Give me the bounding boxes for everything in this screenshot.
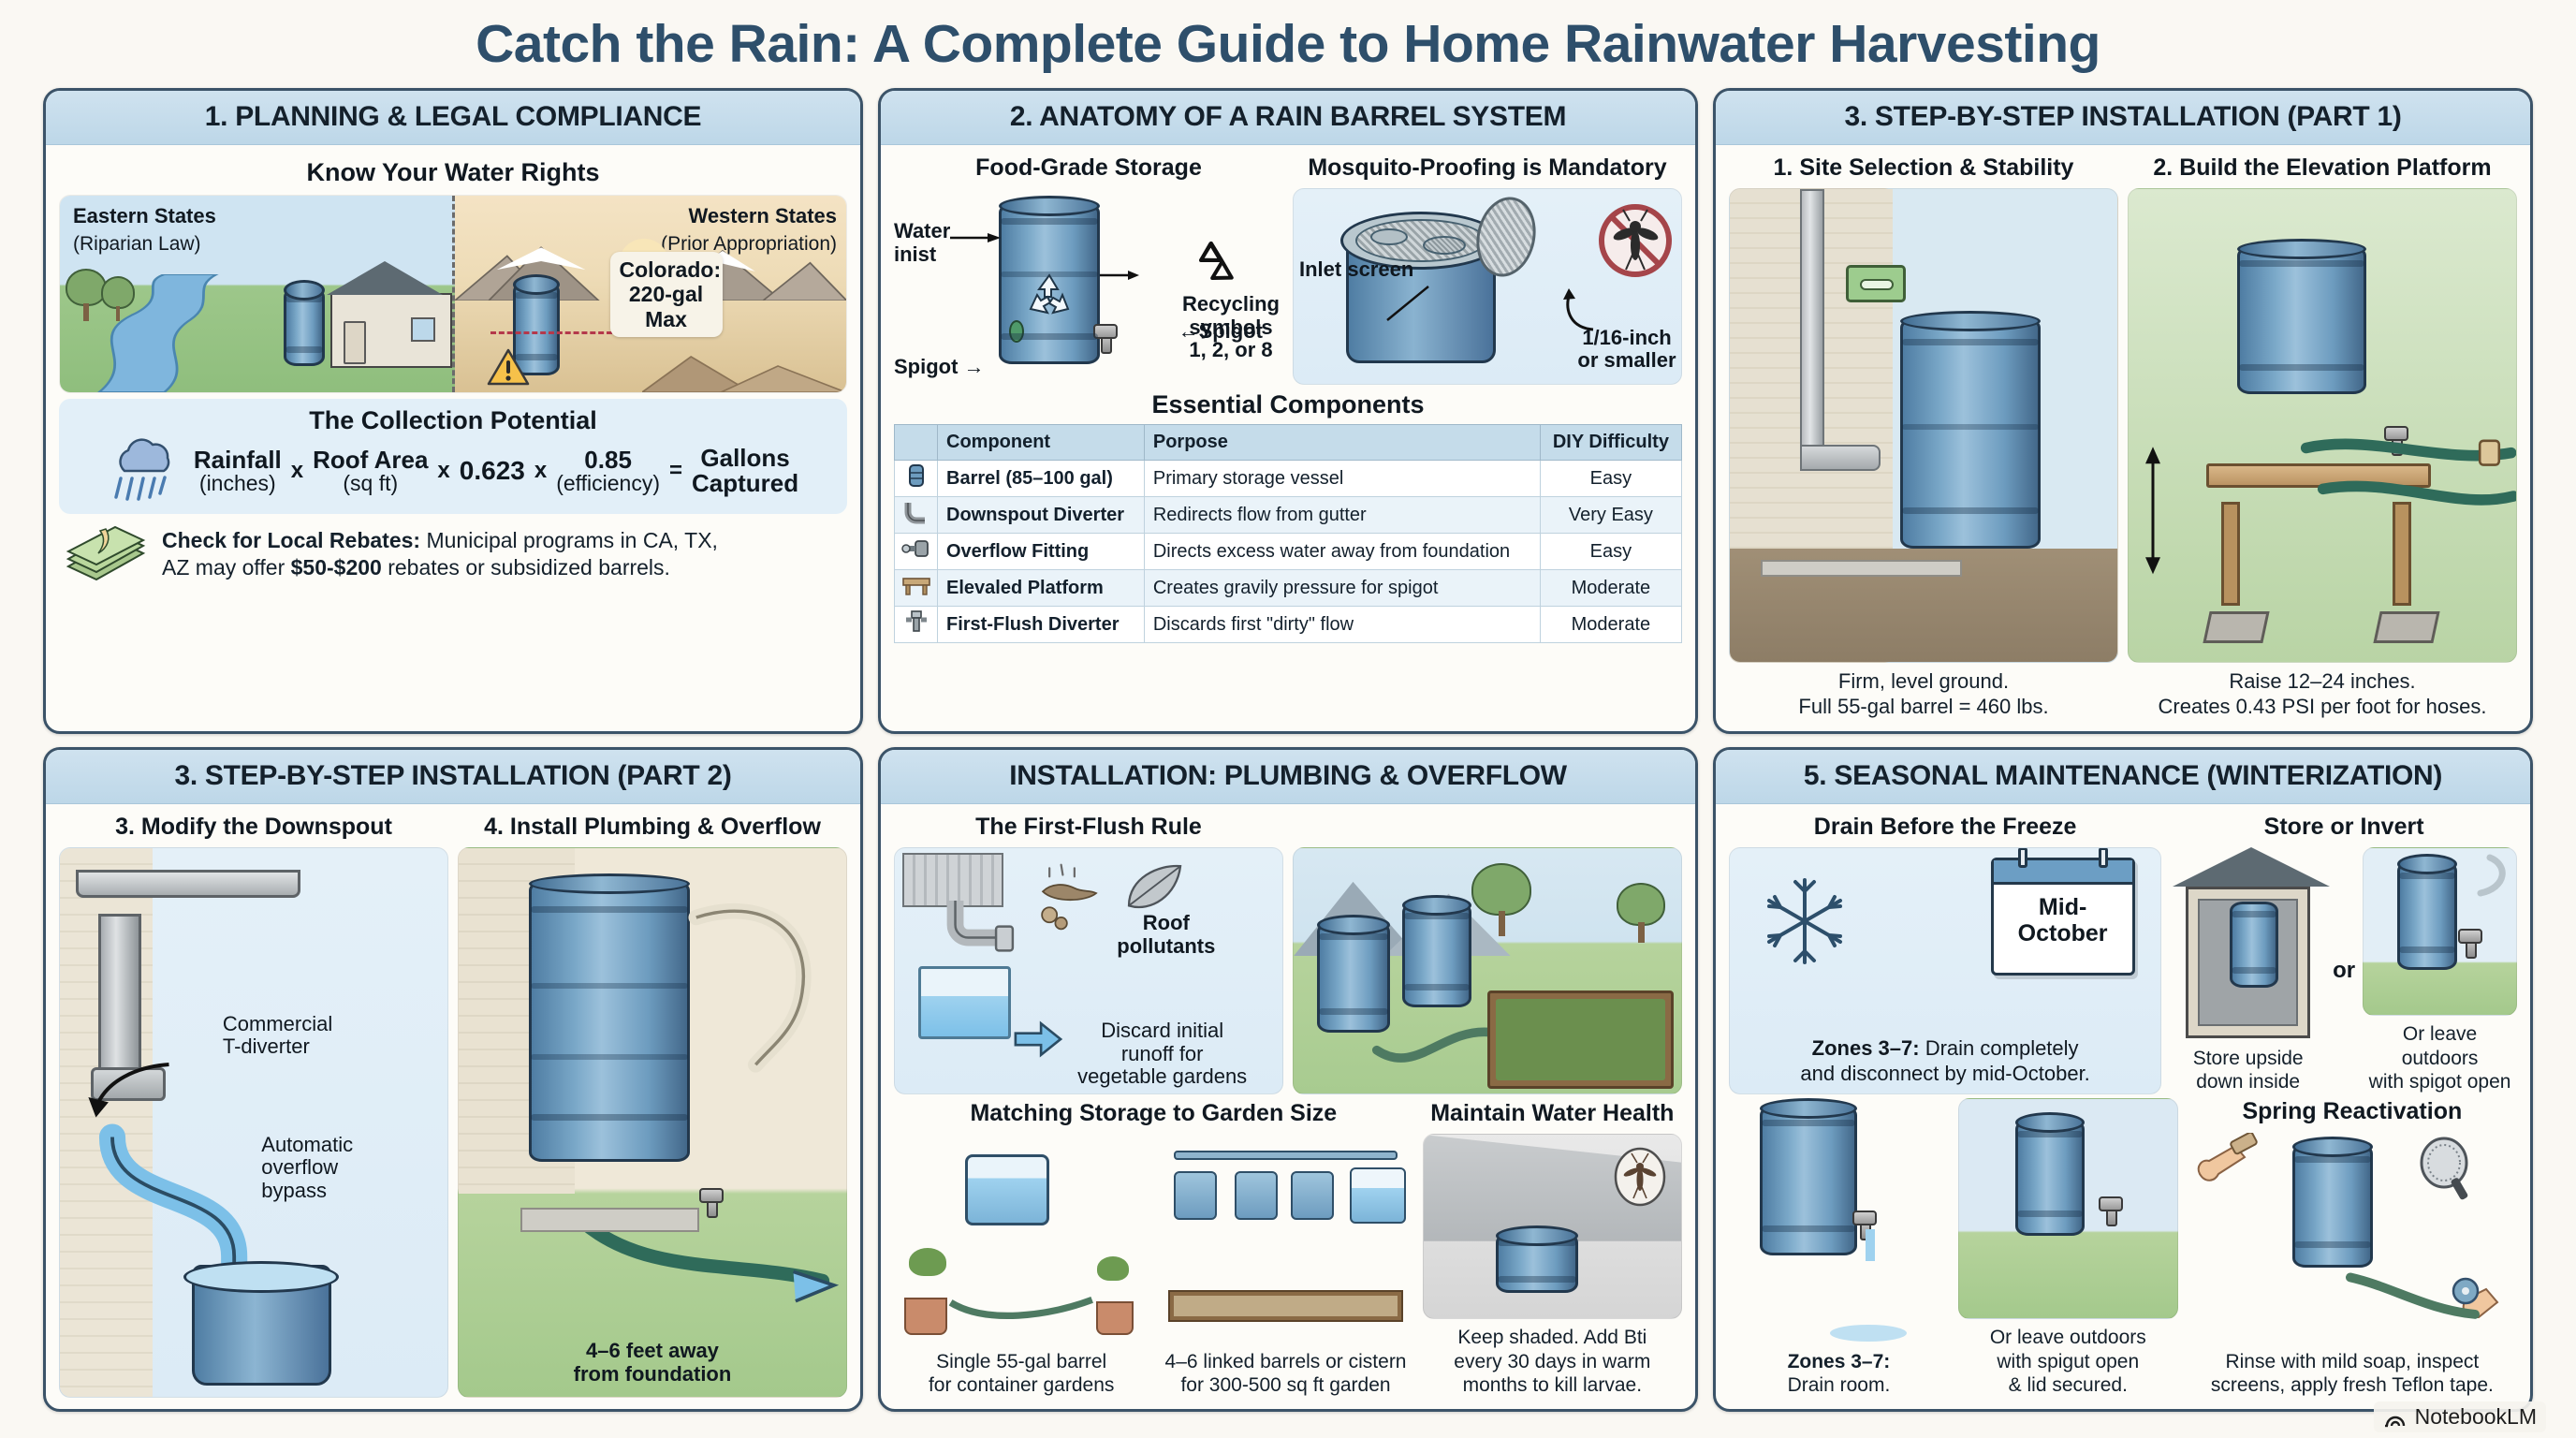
rebate-amount: $50-$200 [291,555,382,580]
cell-component: Downspout Diverter [938,497,1145,534]
tree-icon [101,276,135,321]
step2-caption: Raise 12–24 inches. Creates 0.43 PSI per… [2128,669,2517,720]
panel5-body: The First-Flush Rule [881,804,1695,1409]
recycling-arrows-icon [1184,239,1238,289]
manifold-pipe [1174,1151,1398,1160]
or-separator: or [2333,847,2355,1094]
panel-planning-legal-compliance: 1. PLANNING & LEGAL COMPLIANCE Know Your… [43,88,863,734]
water-stream [1866,1229,1875,1261]
spring-caption: Rinse with mild soap, inspect screens, a… [2188,1350,2517,1398]
rebate-line-1: Municipal programs in CA, TX, [420,528,718,552]
rain-barrel [529,881,690,1162]
barrel-cutaway [965,1154,1049,1225]
single-barrel-option: Single 55-gal barrel for container garde… [894,1134,1149,1398]
platform-leg [2221,502,2240,606]
spigot-label-right: ←Spigot [1178,320,1263,344]
cell-component: Overflow Fitting [938,534,1145,570]
t-diverter-label: Commercial T-diverter [223,1013,401,1059]
formula-row: Rainfall (inches) x Roof Area (sq ft) x … [70,437,836,505]
discard-line-3: vegetable gardens [1077,1064,1247,1088]
store-caption-line2: down inside [2196,1071,2300,1093]
spigot-icon [1852,1211,1877,1225]
th-component: Component [938,425,1145,461]
roof-pollutants-label: Roof pollutants [1065,912,1266,958]
elevation-platform-scene [2128,188,2517,663]
panel5-top-row: The First-Flush Rule [894,814,1682,1094]
panel6-bottom-row: Zones 3–7: Drain room. Or leave outdoors… [1729,1098,2517,1398]
shed-roof [2173,847,2330,887]
panel2-body: Food-Grade Storage [881,145,1695,731]
panel6-header: 5. SEASONAL MAINTENANCE (WINTERIZATION) [1716,750,2530,804]
garden-bed [1168,1290,1403,1322]
panel6-body: Drain Before the Freeze [1716,804,2530,1409]
barrel-body [999,203,1100,364]
first-flush-icon [895,607,938,643]
step-install-plumbing: 4. Install Plumbing & Overflow [458,814,847,1398]
water-inlet-line-2: inist [894,242,936,266]
store-options: Store upside down inside or [2171,847,2517,1094]
matching-storage-col: Matching Storage to Garden Size [894,1100,1413,1398]
spring-caption-line2: screens, apply fresh Teflon tape. [2211,1374,2494,1396]
formula-term-roof-area: Roof Area (sq ft) [313,448,428,494]
outdoor-caption: Or leave outdoors with spigot open [2363,1022,2517,1094]
panel4-body: 3. Modify the Downspout [46,804,860,1409]
colorado-limit-callout: Colorado: 220-gal Max [610,252,723,337]
water-puddle [1830,1325,1907,1342]
watermark-text: NotebookLM [2415,1404,2537,1430]
paver-block [2203,611,2269,643]
store-caption-line1: Store upside [2193,1048,2304,1069]
rebate-bold-label: Check for Local Rebates: [162,528,420,552]
single-barrel-illustration [894,1134,1149,1343]
panel5-bottom-row: Matching Storage to Garden Size [894,1100,1682,1398]
hose-attachment [2346,1253,2484,1339]
table-header-row: Component Porpose DIY Difficulty [895,425,1682,461]
panel-plumbing-overflow: INSTALLATION: PLUMBING & OVERFLOW The Fi… [878,747,1698,1412]
cell-component: Barrel (85–100 gal) [938,461,1145,497]
efficiency-value: 0.85 [556,448,660,473]
curved-arrow-icon [83,1046,184,1134]
spring-caption-line1: Rinse with mild soap, inspect [2225,1351,2479,1372]
formula-equals: = [669,458,682,484]
recycling-line-1: Recycling [1182,292,1280,315]
rain-barrel [284,287,325,366]
panel-installation-part1: 3. STEP-BY-STEP INSTALLATION (PART 1) 1.… [1713,88,2533,734]
mesh-size-line-1: 1/16-inch [1582,326,1671,349]
mesh-size-line-2: or smaller [1577,348,1676,372]
spigot-label-left: Spigot → [894,356,985,379]
roof-area-label: Roof Area [313,448,428,473]
house-door [344,321,366,364]
outdoor-secured-col: Or leave outdoors with spigut open & lid… [1958,1098,2178,1398]
notebooklm-watermark: NotebookLM [2374,1401,2546,1432]
drain-caption-line1: Drain completely [1920,1036,2079,1060]
rain-barrel [2237,246,2366,394]
panel3-body: 1. Site Selection & Stability [1716,145,2530,731]
leader-line-icon [1383,283,1440,324]
table-body: Barrel (85–100 gal) Primary storage vess… [895,461,1682,643]
panel-seasonal-maintenance: 5. SEASONAL MAINTENANCE (WINTERIZATION) … [1713,747,2533,1412]
spigot-icon [1093,324,1118,339]
formula-operator-2: x [437,458,449,484]
height-measure-arrow [2134,397,2172,624]
snowflake-icon [1756,873,1853,970]
tdiverter-line-2: T-diverter [223,1034,310,1058]
panel6-top-row: Drain Before the Freeze [1729,814,2517,1094]
drip-hose [940,1247,1103,1331]
barrel-diagram: Water inist Recycling [894,188,1283,385]
roof-area-units: (sq ft) [313,473,428,495]
cell-component: Elevaled Platform [938,570,1145,607]
site-selection-scene [1729,188,2118,663]
panel3-header: 3. STEP-BY-STEP INSTALLATION (PART 1) [1716,91,2530,145]
water-health-col: Maintain Water Health Keep shaded. A [1423,1100,1682,1398]
formula-term-efficiency: 0.85 (efficiency) [556,448,660,494]
linked-barrels-garden-scene [1293,847,1682,1094]
discard-line-2: runoff for [1121,1042,1204,1065]
level-tool-icon [1846,265,1906,302]
screen-filter-icon [2414,1137,2478,1202]
linked-barrel [1174,1171,1217,1220]
panel4-steps: 3. Modify the Downspout [59,814,847,1398]
water-rights-illustration: Eastern States (Riparian Law) [59,195,847,393]
step3-title: 3. Modify the Downspout [59,814,448,841]
linked-caption-line2: for 300-500 sq ft garden [1180,1374,1390,1396]
spring-title: Spring Reactivation [2188,1098,2517,1125]
cell-component: First-Flush Diverter [938,607,1145,643]
distance-line-2: from foundation [574,1362,732,1386]
linked-barrels-option: 4–6 linked barrels or cistern for 300-50… [1158,1134,1412,1398]
panel2-header: 2. ANATOMY OF A RAIN BARREL SYSTEM [881,91,1695,145]
single-barrel-caption: Single 55-gal barrel for container garde… [894,1350,1149,1398]
essential-components-table: Component Porpose DIY Difficulty Barrel … [894,424,1682,643]
drain-room-col: Zones 3–7: Drain room. [1729,1098,1949,1398]
panel1-body: Know Your Water Rights Eastern States (R… [46,145,860,731]
western-states-scene: Western States (Prior Appropriation) [455,196,847,392]
result-line-2: Captured [692,471,798,496]
overflow-bypass-label: Automatic overflow bypass [261,1134,424,1203]
health-caption-line3: months to kill larvae. [1463,1374,1642,1396]
matching-storage-title: Matching Storage to Garden Size [894,1100,1413,1127]
spring-reactivation-col: Spring Reactivation [2188,1098,2517,1398]
plumbing-overflow-scene: 4–6 feet away from foundation [458,847,847,1398]
house-window [411,317,435,342]
step1-caption-line1: Firm, level ground. [1838,669,2009,693]
pollutants-line-1: Roof [1143,911,1190,934]
downspout-elbow-icon [895,497,938,534]
components-table-title: Essential Components [894,390,1682,419]
cell-purpose: Creates gravily pressure for spigot [1144,570,1540,607]
spigot-icon [2458,929,2482,944]
page-title: Catch the Rain: A Complete Guide to Home… [28,0,2548,88]
health-caption-line2: every 30 days in warm [1454,1351,1650,1372]
formula-title: The Collection Potential [70,406,836,435]
tree-icon [1617,883,1665,943]
water-health-scene [1423,1134,1682,1319]
formula-operator-1: x [291,458,303,484]
rain-barrel [2015,1120,2085,1236]
callout-line-1: Colorado: [620,257,722,282]
eastern-states-scene: Eastern States (Riparian Law) [60,196,455,392]
water-inlet-line-1: Water [894,219,950,242]
bypass-line-1: Automatic [261,1133,353,1156]
panel-anatomy-rain-barrel: 2. ANATOMY OF A RAIN BARREL SYSTEM Food-… [878,88,1698,734]
water-inlet-label: Water inist [894,220,950,266]
secured-line2: with spigut open [1997,1351,2139,1372]
rain-barrel-draining [1760,1106,1857,1255]
formula-operator-3: x [534,458,547,484]
cell-difficulty: Moderate [1540,607,1681,643]
table-row: Elevaled Platform Creates gravily pressu… [895,570,1682,607]
pollutants-line-2: pollutants [1117,934,1215,958]
cell-difficulty: Very Easy [1540,497,1681,534]
formula-result: Gallons Captured [692,446,798,496]
rain-barrel [2397,861,2457,970]
callout-line-2: 220-gal Max [629,282,703,330]
storage-options: Single 55-gal barrel for container garde… [894,1134,1413,1398]
capacity-limit-line [490,331,612,334]
step-site-selection: 1. Site Selection & Stability [1729,154,2118,720]
spring-reactivation-illustration [2188,1127,2517,1343]
rainfall-units: (inches) [194,473,282,495]
concrete-pad [1761,560,1962,577]
discard-line-1: Discard initial [1101,1019,1223,1042]
step1-caption: Firm, level ground. Full 55-gal barrel =… [1729,669,2118,720]
overflow-fitting-icon [895,534,938,570]
drain-caption-zones: Zones 3–7: [1812,1036,1920,1060]
drain-caption: Zones 3–7: Drain completely and disconne… [1730,1036,2160,1086]
paver-block [2373,611,2439,643]
outdoor-secured-caption: Or leave outdoors with spigut open & lid… [1958,1326,2178,1398]
outdoor-caption-line1: Or leave outdoors [2402,1023,2479,1069]
cell-difficulty: Moderate [1540,570,1681,607]
bypass-line-2: overflow [261,1155,338,1179]
efficiency-label: (efficiency) [556,473,660,495]
store-inside-option: Store upside down inside [2171,847,2325,1094]
raised-garden-bed [1487,990,1674,1089]
downspout-modify-scene: Commercial T-diverter Automatic overflow… [59,847,448,1398]
discard-runoff-label: Discard initial runoff for vegetable gar… [1050,1020,1275,1089]
tdiverter-line-1: Commercial [223,1012,332,1035]
linked-barrels-col: . [1293,814,1682,1094]
cell-purpose: Directs excess water away from foundatio… [1144,534,1540,570]
rebate-text: Check for Local Rebates: Municipal progr… [162,527,718,581]
notebooklm-logo-icon [2383,1405,2408,1430]
garden-hose [2299,397,2516,605]
drain-room-zones: Zones 3–7: [1788,1351,1891,1372]
screen-opening [1370,228,1408,245]
store-inside-caption: Store upside down inside [2171,1047,2325,1094]
th-difficulty: DIY Difficulty [1540,425,1681,461]
hose-loop-icon [2475,852,2512,897]
cell-difficulty: Easy [1540,461,1681,497]
drain-caption-line2: and disconnect by mid-October. [1800,1062,2089,1085]
table-row: Overflow Fitting Directs excess water aw… [895,534,1682,570]
downspout-pipe [1800,189,1824,463]
desert-hills [642,342,846,392]
table-row: Barrel (85–100 gal) Primary storage vess… [895,461,1682,497]
th-icon [895,425,938,461]
store-or-invert-col: Store or Invert [2171,814,2517,1094]
rainfall-label: Rainfall [194,448,282,473]
leader-line-icon [950,231,1004,244]
rebate-line-2a: AZ may offer [162,555,291,580]
single-caption-line1: Single 55-gal barrel [936,1351,1106,1372]
bypass-line-3: bypass [261,1179,327,1202]
rebate-note: Check for Local Rebates: Municipal progr… [59,525,847,583]
screen-opening [1423,236,1466,255]
result-line-1: Gallons [692,446,798,471]
th-purpose: Porpose [1144,425,1540,461]
mosquito-warning-icon [1609,1146,1671,1208]
scrub-brush-hand-icon [2194,1133,2263,1202]
shed-illustration [2171,847,2325,1040]
formula-term-rainfall: Rainfall (inches) [194,448,282,494]
cistern [1350,1167,1406,1224]
leave-outdoors-option: Or leave outdoors with spigot open [2363,847,2517,1094]
house-roof [327,261,443,295]
distance-label: 4–6 feet away from foundation [529,1340,777,1386]
food-grade-storage-title: Food-Grade Storage [894,154,1283,182]
step-elevation-platform: 2. Build the Elevation Platform [2128,154,2517,720]
calendar-icon: Mid- October [1991,858,2135,976]
step1-title: 1. Site Selection & Stability [1729,154,2118,182]
barrel-icon [895,461,938,497]
inverted-barrel [2230,902,2278,988]
mosquito-proofing-title: Mosquito-Proofing is Mandatory [1293,154,1682,182]
linked-barrel [1235,1171,1278,1220]
panel-grid: 1. PLANNING & LEGAL COMPLIANCE Know Your… [28,88,2548,1412]
mosquito-proofing-col: Mosquito-Proofing is Mandatory Inlet scr… [1293,154,1682,385]
cell-purpose: Redirects flow from gutter [1144,497,1540,534]
tree-icon [1471,863,1531,936]
store-title: Store or Invert [2171,814,2517,841]
rain-cloud-icon [108,437,184,505]
panel2-top-row: Food-Grade Storage [894,154,1682,385]
drain-title: Drain Before the Freeze [1729,814,2161,841]
leader-line-icon [1098,269,1141,282]
linked-barrels-caption: 4–6 linked barrels or cistern for 300-50… [1158,1350,1412,1398]
drain-freeze-scene: Mid- October Zones 3–7: Drain completely… [1729,847,2161,1094]
gutter [76,870,300,898]
panel1-subhead: Know Your Water Rights [59,158,847,187]
barrel-open-rim [183,1261,339,1293]
step2-caption-line1: Raise 12–24 inches. [2229,669,2415,693]
linked-barrels-illustration [1158,1134,1412,1343]
first-flush-col: The First-Flush Rule [894,814,1283,1094]
table-row: First-Flush Diverter Discards first "dir… [895,607,1682,643]
draining-barrel-illustration [1729,1098,1949,1343]
secured-line1: Or leave outdoors [1990,1327,2146,1348]
water-health-caption: Keep shaded. Add Bti every 30 days in wa… [1423,1326,1682,1398]
health-caption-line1: Keep shaded. Add Bti [1457,1327,1647,1348]
panel4-header: 3. STEP-BY-STEP INSTALLATION (PART 2) [46,750,860,804]
step4-title: 4. Install Plumbing & Overflow [458,814,847,841]
calendar-line-2: October [2018,920,2108,946]
rebate-line-2b: rebates or subsidized barrels. [382,555,670,580]
no-mosquito-icon [1595,200,1676,281]
single-caption-line2: for container gardens [929,1374,1114,1396]
distance-line-1: 4–6 feet away [586,1339,719,1362]
outdoor-caption-line2: with spigot open [2369,1071,2511,1093]
eastern-states-title: Eastern States [73,205,216,228]
step2-caption-line2: Creates 0.43 PSI per foot for hoses. [2159,695,2487,718]
mesh-size-label: 1/16-inch or smaller [1574,327,1679,373]
western-states-title: Western States [688,205,837,228]
downspout-elbow [1800,445,1881,471]
inlet-screen-label: Inlet screen [1299,258,1413,282]
side-fitting [1009,320,1024,343]
calendar-line-1: Mid- [2039,894,2086,920]
table-row: Downspout Diverter Redirects flow from g… [895,497,1682,534]
rain-barrel-shaded [1496,1233,1578,1293]
food-grade-storage-col: Food-Grade Storage [894,154,1283,385]
cash-stack-icon [63,525,149,583]
overflow-hose [683,870,839,1089]
cell-purpose: Primary storage vessel [1144,461,1540,497]
first-flush-chamber [918,966,1011,1040]
step1-caption-line2: Full 55-gal barrel = 460 lbs. [1798,695,2048,718]
platform-icon [895,570,938,607]
first-flush-title: The First-Flush Rule [894,814,1283,841]
step-modify-downspout: 3. Modify the Downspout [59,814,448,1398]
linked-caption-line1: 4–6 linked barrels or cistern [1165,1351,1407,1372]
collection-potential-box: The Collection Potential Rainfall [59,399,847,514]
table-head: Component Porpose DIY Difficulty [895,425,1682,461]
panel-installation-part2: 3. STEP-BY-STEP INSTALLATION (PART 2) 3.… [43,747,863,1412]
drain-room-caption: Zones 3–7: Drain room. [1729,1350,1949,1398]
eastern-states-subtitle: (Riparian Law) [73,233,201,256]
drain-room-line2: Drain room. [1788,1374,1891,1396]
cell-purpose: Discards first "dirty" flow [1144,607,1540,643]
warning-triangle-icon [487,347,530,387]
outdoor-secured-illustration [1958,1098,2178,1319]
mosquito-proofing-diagram: Inlet screen [1293,188,1682,385]
spigot-icon [2099,1196,2123,1211]
recycling-symbol-icon [1024,271,1075,318]
infographic-root: Catch the Rain: A Complete Guide to Home… [0,0,2576,1438]
panel5-header: INSTALLATION: PLUMBING & OVERFLOW [881,750,1695,804]
rain-barrel [2292,1144,2373,1268]
first-flush-scene: Roof pollutants Discard initial runoff f… [894,847,1283,1094]
drain-before-freeze-col: Drain Before the Freeze [1729,814,2161,1094]
secured-line3: & lid secured. [2009,1374,2128,1396]
step2-title: 2. Build the Elevation Platform [2128,154,2517,182]
water-health-title: Maintain Water Health [1423,1100,1682,1127]
linked-barrel [1291,1171,1334,1220]
cell-difficulty: Easy [1540,534,1681,570]
barrel-pad [520,1208,698,1232]
outdoor-barrel-illustration [2363,847,2517,1016]
panel3-steps: 1. Site Selection & Stability [1729,154,2517,720]
formula-constant: 0.623 [460,456,525,486]
panel1-header: 1. PLANNING & LEGAL COMPLIANCE [46,91,860,145]
rain-barrel [1900,318,2041,549]
